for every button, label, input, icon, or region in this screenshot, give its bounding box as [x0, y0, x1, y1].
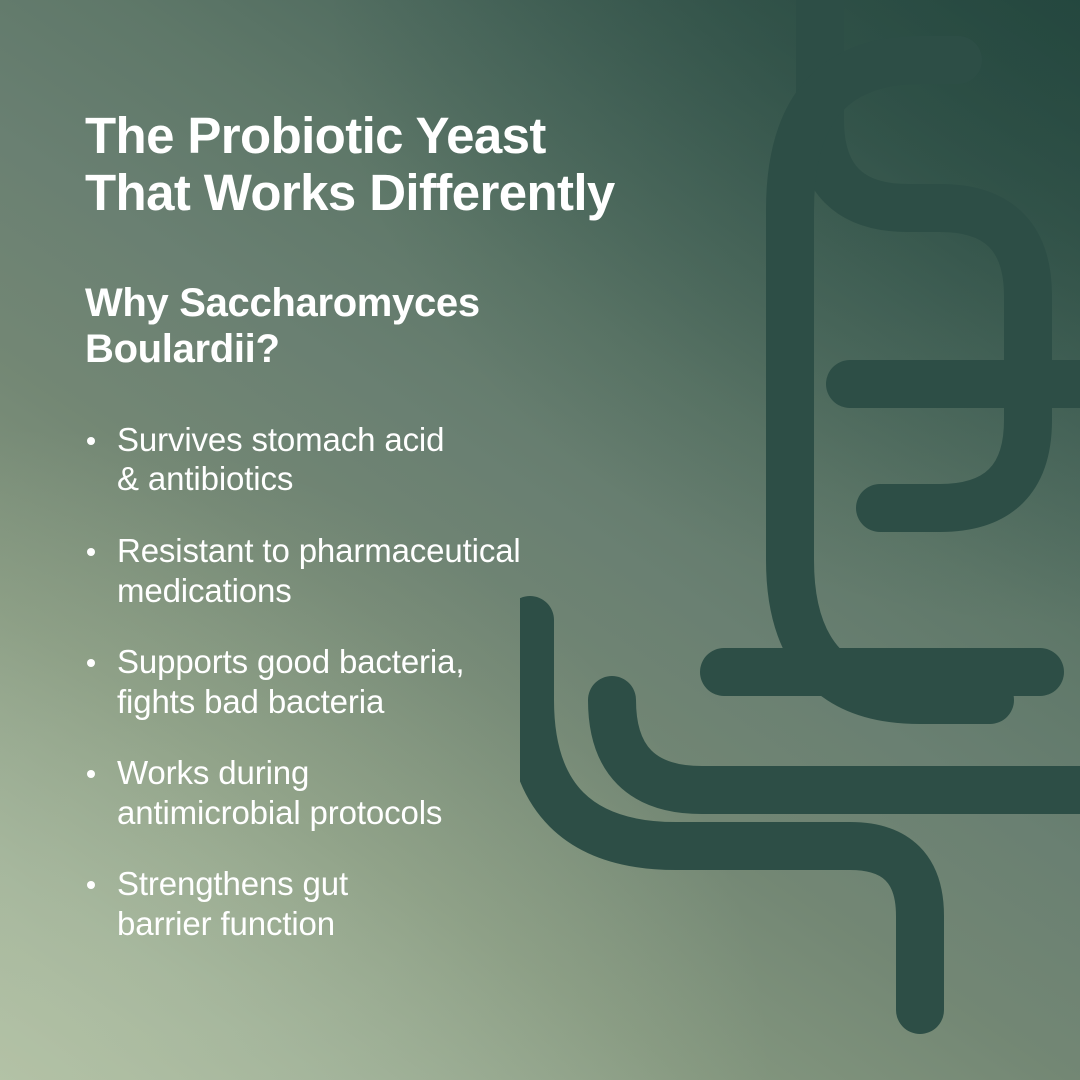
bullet-icon	[87, 881, 95, 889]
list-item: Survives stomach acid & antibiotics	[85, 420, 705, 499]
list-item-label: Works during antimicrobial protocols	[117, 753, 705, 832]
bullet-icon	[87, 770, 95, 778]
list-item-label: Strengthens gut barrier function	[117, 864, 705, 943]
list-item: Resistant to pharmaceutical medications	[85, 531, 705, 610]
list-item: Supports good bacteria, fights bad bacte…	[85, 642, 705, 721]
list-item: Strengthens gut barrier function	[85, 864, 705, 943]
section-subtitle: Why Saccharomyces Boulardii?	[85, 280, 645, 372]
list-item: Works during antimicrobial protocols	[85, 753, 705, 832]
benefits-list: Survives stomach acid & antibiotics Resi…	[85, 420, 1080, 944]
bullet-icon	[87, 659, 95, 667]
poster-canvas: The Probiotic Yeast That Works Different…	[0, 0, 1080, 1080]
bullet-icon	[87, 437, 95, 445]
content-column: The Probiotic Yeast That Works Different…	[0, 0, 1080, 1080]
list-item-label: Resistant to pharmaceutical medications	[117, 531, 705, 610]
page-title: The Probiotic Yeast That Works Different…	[85, 108, 765, 222]
list-item-label: Survives stomach acid & antibiotics	[117, 420, 705, 499]
list-item-label: Supports good bacteria, fights bad bacte…	[117, 642, 705, 721]
bullet-icon	[87, 548, 95, 556]
